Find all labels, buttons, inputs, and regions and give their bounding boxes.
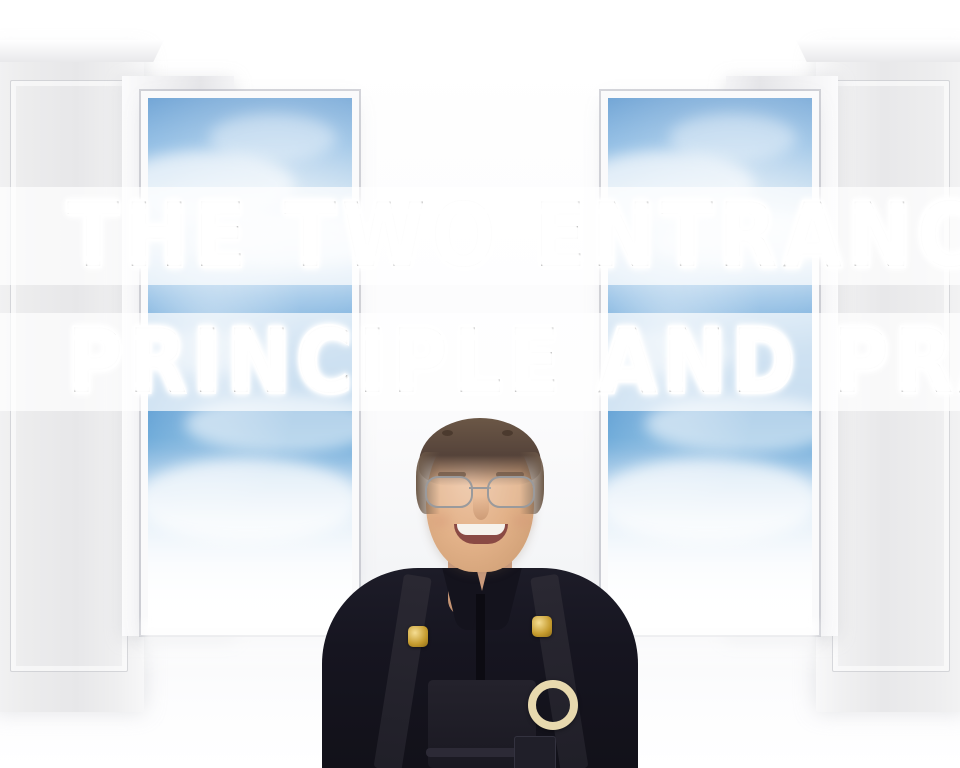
cloud <box>653 215 812 268</box>
door-right-opening <box>608 98 812 628</box>
door-left-top-edge <box>0 40 164 62</box>
cloud <box>645 395 812 453</box>
presenter-cheek-right <box>512 514 532 528</box>
door-right-top-edge <box>796 40 960 62</box>
cloud <box>608 331 734 373</box>
presenter-figure <box>330 418 630 768</box>
glasses-lens-right <box>487 476 535 508</box>
slide-canvas: THE TWO ENTRANCES: PRINCIPLE AND PRACTIC… <box>0 0 960 768</box>
regalia-pin-left-icon <box>408 626 428 647</box>
glasses-lens-left <box>425 476 473 508</box>
presenter-teeth <box>457 524 505 535</box>
presenter-cheek-left <box>430 514 450 528</box>
cloud <box>148 331 274 373</box>
cloud <box>185 395 352 453</box>
regalia-pin-right-icon <box>532 616 552 637</box>
presenter-nose <box>473 496 489 520</box>
sky-haze <box>608 448 812 628</box>
presenter-eye-left <box>442 430 453 436</box>
regalia-ring-icon <box>528 680 578 730</box>
cloud <box>193 215 352 268</box>
sky-left <box>148 98 352 628</box>
presenter-eye-right <box>502 430 513 436</box>
apron-pocket <box>514 736 556 768</box>
door-left-opening <box>148 98 352 628</box>
sky-right <box>608 98 812 628</box>
sky-haze <box>148 448 352 628</box>
